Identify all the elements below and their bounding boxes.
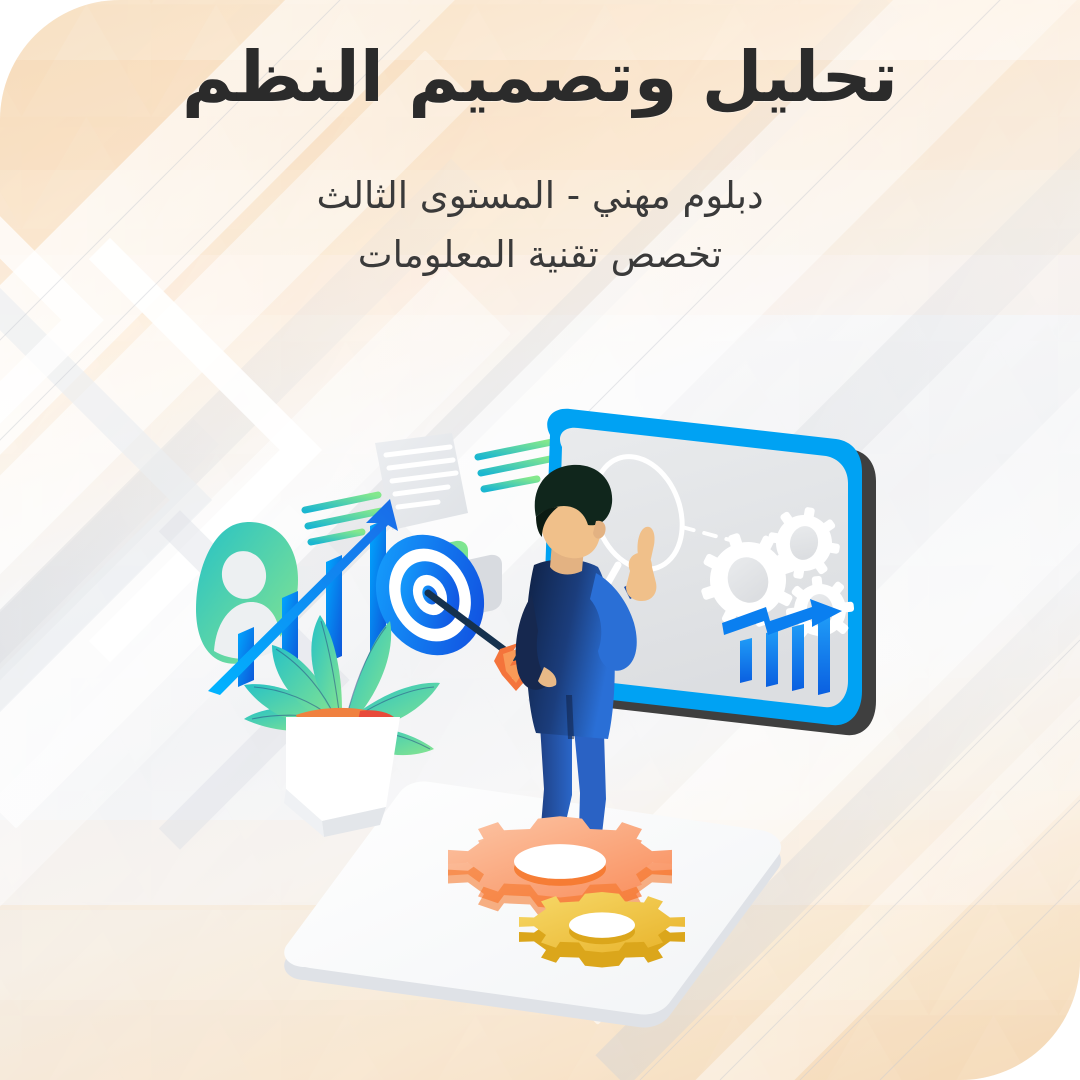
poster-heading-block: تحليل وتصميم النظم دبلوم مهني - المستوى … [0,34,1080,285]
page-title: تحليل وتصميم النظم [0,34,1080,122]
gear-yellow [519,892,685,967]
main-illustration [200,395,900,1015]
subtitle-line-2: تخصص تقنية المعلومات [0,225,1080,285]
gear-orange [448,816,672,917]
subtitle-block: دبلوم مهني - المستوى الثالث تخصص تقنية ا… [0,166,1080,286]
poster-canvas: تحليل وتصميم النظم دبلوم مهني - المستوى … [0,0,1080,1080]
subtitle-line-1: دبلوم مهني - المستوى الثالث [0,166,1080,226]
